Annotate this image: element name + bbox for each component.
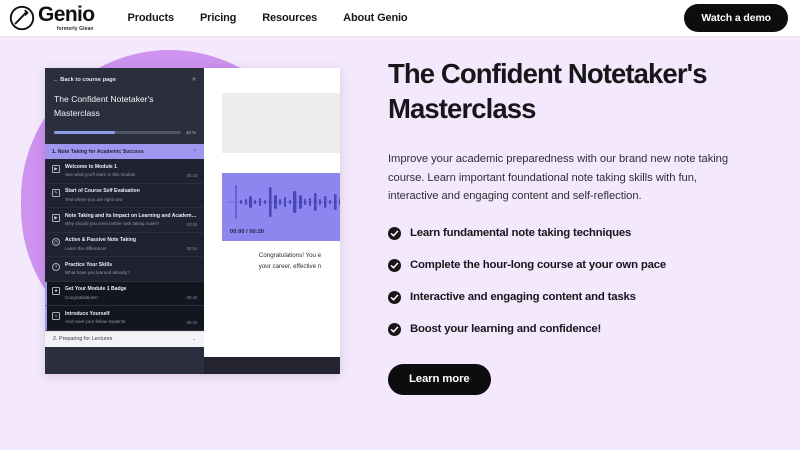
hero-content: The Confident Notetaker's Masterclass Im… [388,37,800,450]
benefit-label: Learn fundamental note taking techniques [410,227,631,239]
lesson-title: Start of Course Self Evaluation [65,188,197,195]
brand-tagline: formerly Glean [57,26,94,32]
progress-bar-track [54,131,181,134]
nav-item-about-genio[interactable]: About Genio [343,12,407,24]
lesson-list: ▶Welcome to Module 1See what you'll lear… [45,159,204,331]
lesson-title: Welcome to Module 1 [65,164,197,171]
video-icon: ▶ [52,214,60,222]
check-circle-icon [388,323,401,336]
audio-timestamp: 00:00 / 00:20 [230,229,264,235]
lesson-title: Note Taking and its Impact on Learning a… [65,213,197,220]
lesson-row[interactable]: ?Practice Your SkillsWhat have you learn… [45,257,204,282]
benefits-list: Learn fundamental note taking techniques… [388,227,800,336]
benefit-item: Boost your learning and confidence! [388,323,800,336]
lesson-subtitle: What have you learned already? [65,270,130,276]
hero-description: Improve your academic preparedness with … [388,150,743,206]
check-circle-icon [388,227,401,240]
lesson-subtitle: Test where you are right now [65,197,123,203]
lesson-meta: Test where you are right now [65,197,197,203]
lesson-body: Note Taking and its Impact on Learning a… [65,213,197,228]
course-title: The Confident Notetaker's Masterclass [54,92,195,120]
quiz-icon: ✎ [52,189,60,197]
congratulations-text: Congratulations! You e your career, effe… [210,250,340,272]
audio-player[interactable]: 00:00 / 00:20 [222,173,340,241]
lesson-row[interactable]: ✎Start of Course Self EvaluationTest whe… [45,184,204,209]
collapse-sidebar-icon[interactable]: « [192,76,196,83]
chevron-down-icon: ⌄ [192,336,196,342]
lesson-subtitle: And meet your fellow students [65,319,125,325]
main-nav: Products Pricing Resources About Genio [128,12,408,24]
module-2-label: 2. Preparing for Lectures [53,336,112,342]
lesson-meta: Congratulations!00:43 [65,295,197,301]
lesson-body: Active & Passive Note TakingLearn the di… [65,237,197,252]
course-footer-bar: ‹ previo [204,357,340,374]
lesson-subtitle: Congratulations! [65,295,98,301]
video-icon: ▶ [52,165,60,173]
lesson-duration: 00:33 [187,173,197,178]
lesson-meta: See what you'll learn in this module00:3… [65,172,197,178]
lesson-body: Introduce YourselfAnd meet your fellow s… [65,311,197,326]
lesson-body: Start of Course Self EvaluationTest wher… [65,188,197,203]
progress-bar-fill [54,131,115,134]
question-icon: ? [52,263,60,271]
lesson-meta: Learn the difference!00:54 [65,246,197,252]
hero-visual: ← Back to course page « The Confident No… [0,37,360,450]
benefit-item: Interactive and engaging content and tas… [388,291,800,304]
audio-waveform-icon [228,183,340,221]
course-content-panel: 00:00 / 00:20 Congratulations! You e you… [204,68,340,374]
watch-demo-button[interactable]: Watch a demo [684,4,788,32]
badge-icon: ★ [52,287,60,295]
brand-logo[interactable]: Genio formerly Glean [9,4,95,32]
check-circle-icon [388,291,401,304]
lesson-body: Get Your Module 1 BadgeCongratulations!0… [65,286,197,301]
congratulations-line-2: your career, effective n [210,261,340,272]
lesson-subtitle: Learn the difference! [65,246,106,252]
benefit-label: Boost your learning and confidence! [410,323,601,335]
genio-circle-logo-icon [9,5,35,31]
course-app-screenshot: ← Back to course page « The Confident No… [45,68,340,374]
lesson-duration: 00:43 [187,295,197,300]
lesson-subtitle: Why should you even bother with taking n… [65,221,159,227]
benefit-label: Complete the hour-long course at your ow… [410,259,666,271]
course-sidebar: ← Back to course page « The Confident No… [45,68,204,374]
lesson-subtitle: See what you'll learn in this module [65,172,135,178]
nav-item-pricing[interactable]: Pricing [200,12,236,24]
top-navbar: Genio formerly Glean Products Pricing Re… [0,0,800,37]
hero-section: ← Back to course page « The Confident No… [0,37,800,450]
benefit-label: Interactive and engaging content and tas… [410,291,636,303]
learn-more-button[interactable]: Learn more [388,364,491,395]
lesson-duration: 03:25 [187,222,197,227]
module-1-label: 1. Note Taking for Academic Success [52,149,144,155]
lesson-title: Active & Passive Note Taking [65,237,197,244]
lesson-duration: 00:43 [187,320,197,325]
nav-item-products[interactable]: Products [128,12,174,24]
lesson-meta: And meet your fellow students00:43 [65,319,197,325]
lesson-row[interactable]: ★Get Your Module 1 BadgeCongratulations!… [45,282,204,307]
lesson-title: Practice Your Skills [65,262,197,269]
lesson-row[interactable]: ▶Note Taking and its Impact on Learning … [45,208,204,233]
benefit-item: Learn fundamental note taking techniques [388,227,800,240]
clock-icon: ◷ [52,238,60,246]
lesson-meta: Why should you even bother with taking n… [65,221,197,227]
course-sidebar-header: ← Back to course page « [45,68,204,83]
lesson-duration: 00:54 [187,246,197,251]
brand-wordmark: Genio formerly Glean [38,4,95,32]
congratulations-line-1: Congratulations! You e [210,250,340,261]
benefit-item: Complete the hour-long course at your ow… [388,259,800,272]
lesson-row[interactable]: ▶Welcome to Module 1See what you'll lear… [45,159,204,184]
lesson-row[interactable]: ◷Active & Passive Note TakingLearn the d… [45,233,204,258]
lesson-body: Practice Your SkillsWhat have you learne… [65,262,197,277]
lesson-body: Welcome to Module 1See what you'll learn… [65,164,197,179]
module-2-header[interactable]: 2. Preparing for Lectures ⌄ [45,331,204,347]
nav-item-resources[interactable]: Resources [262,12,317,24]
lesson-title: Get Your Module 1 Badge [65,286,197,293]
back-to-course-page-link[interactable]: ← Back to course page [53,77,116,83]
check-circle-icon [388,259,401,272]
module-1-header[interactable]: 1. Note Taking for Academic Success ⌃ [45,144,204,159]
lesson-title: Introduce Yourself [65,311,197,318]
media-placeholder [222,93,340,153]
lesson-row[interactable]: ☺Introduce YourselfAnd meet your fellow … [45,306,204,331]
brand-name: Genio [38,4,95,25]
chevron-up-icon: ⌃ [193,149,197,155]
course-progress: 48 % [54,130,196,135]
progress-percent-label: 48 % [186,130,196,135]
people-icon: ☺ [52,312,60,320]
lesson-meta: What have you learned already? [65,270,197,276]
page-title: The Confident Notetaker's Masterclass [388,56,740,126]
